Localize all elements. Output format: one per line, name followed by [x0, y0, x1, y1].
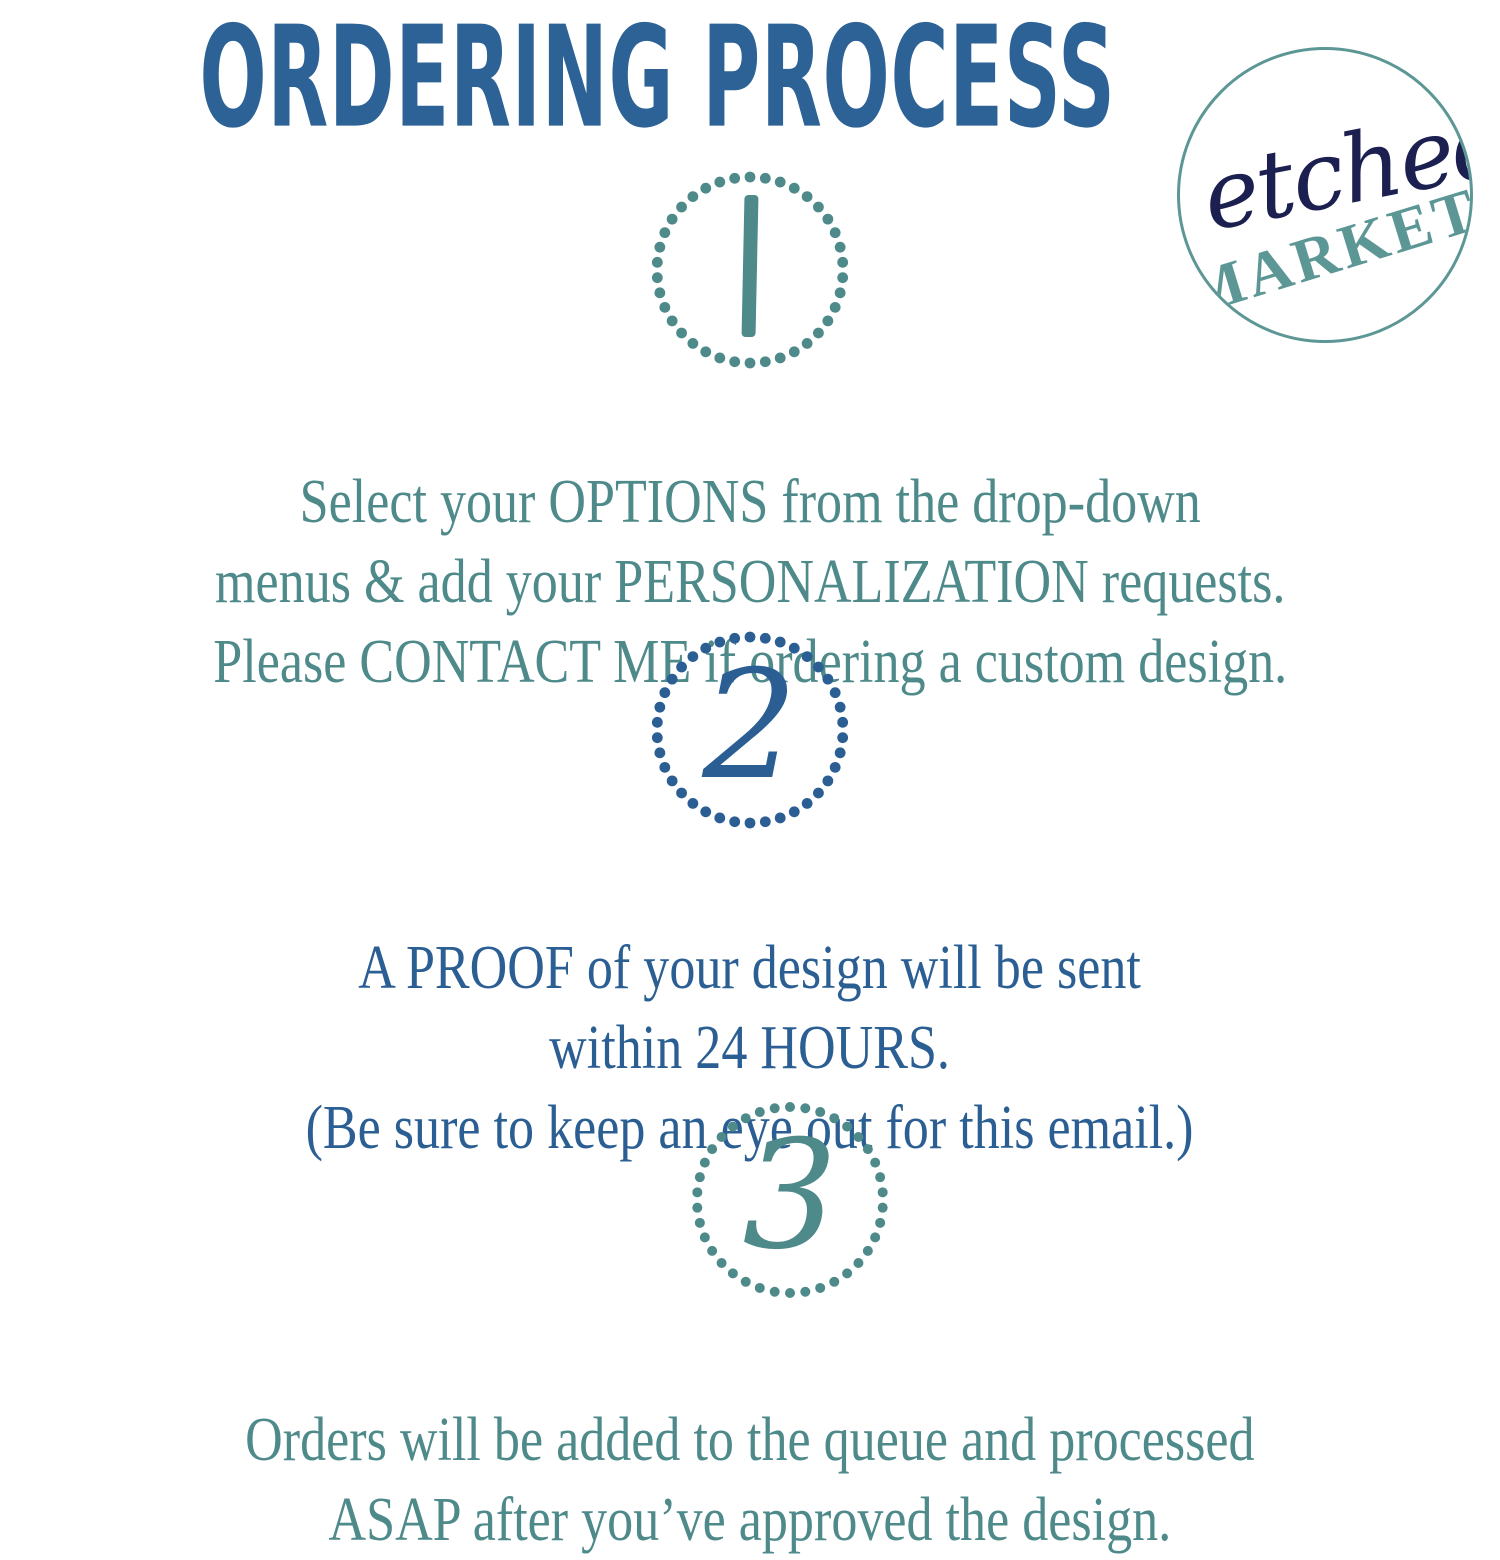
step-3-body: Orders will be added to the queue and pr… [245, 1400, 1254, 1560]
step-3-badge: 3 [692, 1102, 888, 1298]
step-2-badge: 2 [652, 632, 848, 828]
step-1-number [652, 172, 848, 368]
numeral-one-stroke [742, 195, 759, 337]
step-1-badge [652, 172, 848, 368]
page-title-text: ORDERING PROCESS [199, 8, 1115, 148]
step-3-number: 3 [692, 1102, 888, 1298]
step-2-number: 2 [652, 632, 848, 828]
step-3-text: Orders will be added to the queue and pr… [0, 1320, 1500, 1560]
brand-logo: etched MARKET [1177, 47, 1473, 343]
ordering-process-graphic: ORDERING PROCESS etched MARKET Select yo… [0, 0, 1500, 1500]
